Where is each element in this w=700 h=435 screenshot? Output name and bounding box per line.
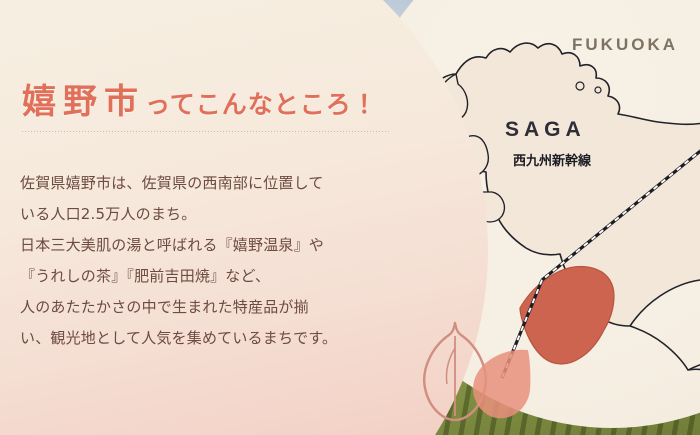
map-label-saga: SAGA — [505, 118, 586, 142]
map-label-fukuoka: FUKUOKA — [572, 35, 678, 55]
description-line: 日本三大美肌の湯と呼ばれる『嬉野温泉』や — [20, 230, 405, 261]
page-title: 嬉野市ってこんなところ！ — [22, 74, 378, 123]
title-divider — [22, 131, 390, 132]
page-title-sub: ってこんなところ！ — [145, 90, 378, 119]
description-line: 『うれしの茶』『肥前吉田焼』など、 — [20, 261, 405, 292]
map-label-shinkansen: 西九州新幹線 — [513, 150, 591, 169]
description-line: 佐賀県嬉野市は、佐賀県の西南部に位置して — [20, 168, 405, 199]
hero-banner: FUKUOKA SAGA NAGASAKI 西九州新幹線 嬉野市ってこんなところ… — [0, 0, 700, 435]
description-line: いる人口2.5万人のまち。 — [20, 199, 405, 230]
description-line: い、観光地として人気を集めているまちです。 — [20, 323, 405, 354]
hero-text-block: 嬉野市ってこんなところ！ 佐賀県嬉野市は、佐賀県の西南部に位置して いる人口2.… — [0, 0, 420, 435]
leaf-filled-icon — [470, 348, 532, 420]
description-line: 人のあたたかさの中で生まれた特産品が揃 — [20, 292, 405, 323]
description-text: 佐賀県嬉野市は、佐賀県の西南部に位置して いる人口2.5万人のまち。 日本三大美… — [20, 168, 405, 354]
page-title-main: 嬉野市 — [22, 82, 145, 122]
